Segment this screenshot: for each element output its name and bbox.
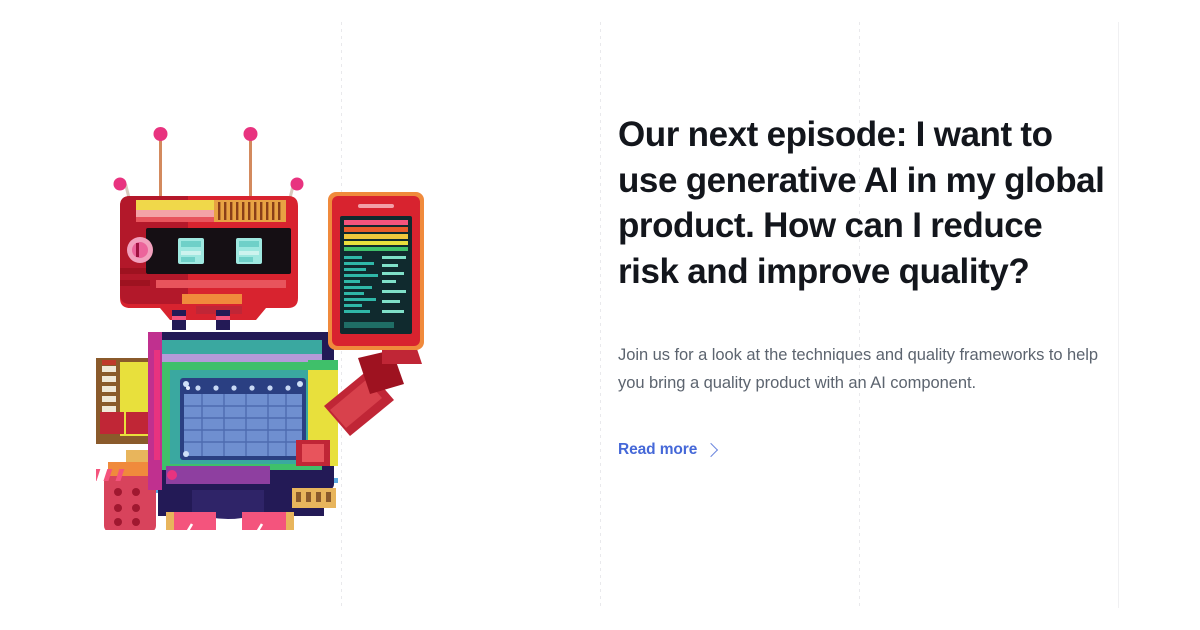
read-more-label: Read more [618, 441, 697, 459]
tablet-device [328, 192, 424, 350]
layout-guide-2 [600, 22, 601, 608]
promo-text-column: Our next episode: I want to use generati… [618, 112, 1110, 459]
layout-guide-4 [1118, 22, 1119, 608]
page-title: Our next episode: I want to use generati… [618, 112, 1110, 294]
retro-robot-illustration [96, 110, 426, 530]
read-more-link[interactable]: Read more [618, 441, 716, 459]
chevron-right-icon [704, 443, 718, 457]
torso-screen [180, 378, 306, 460]
head-dial [127, 237, 153, 263]
robot-head [120, 196, 298, 320]
promo-card: Our next episode: I want to use generati… [0, 0, 1200, 630]
head-grille [214, 200, 286, 222]
promo-description: Join us for a look at the techniques and… [618, 294, 1103, 397]
illustration-container [96, 110, 426, 530]
